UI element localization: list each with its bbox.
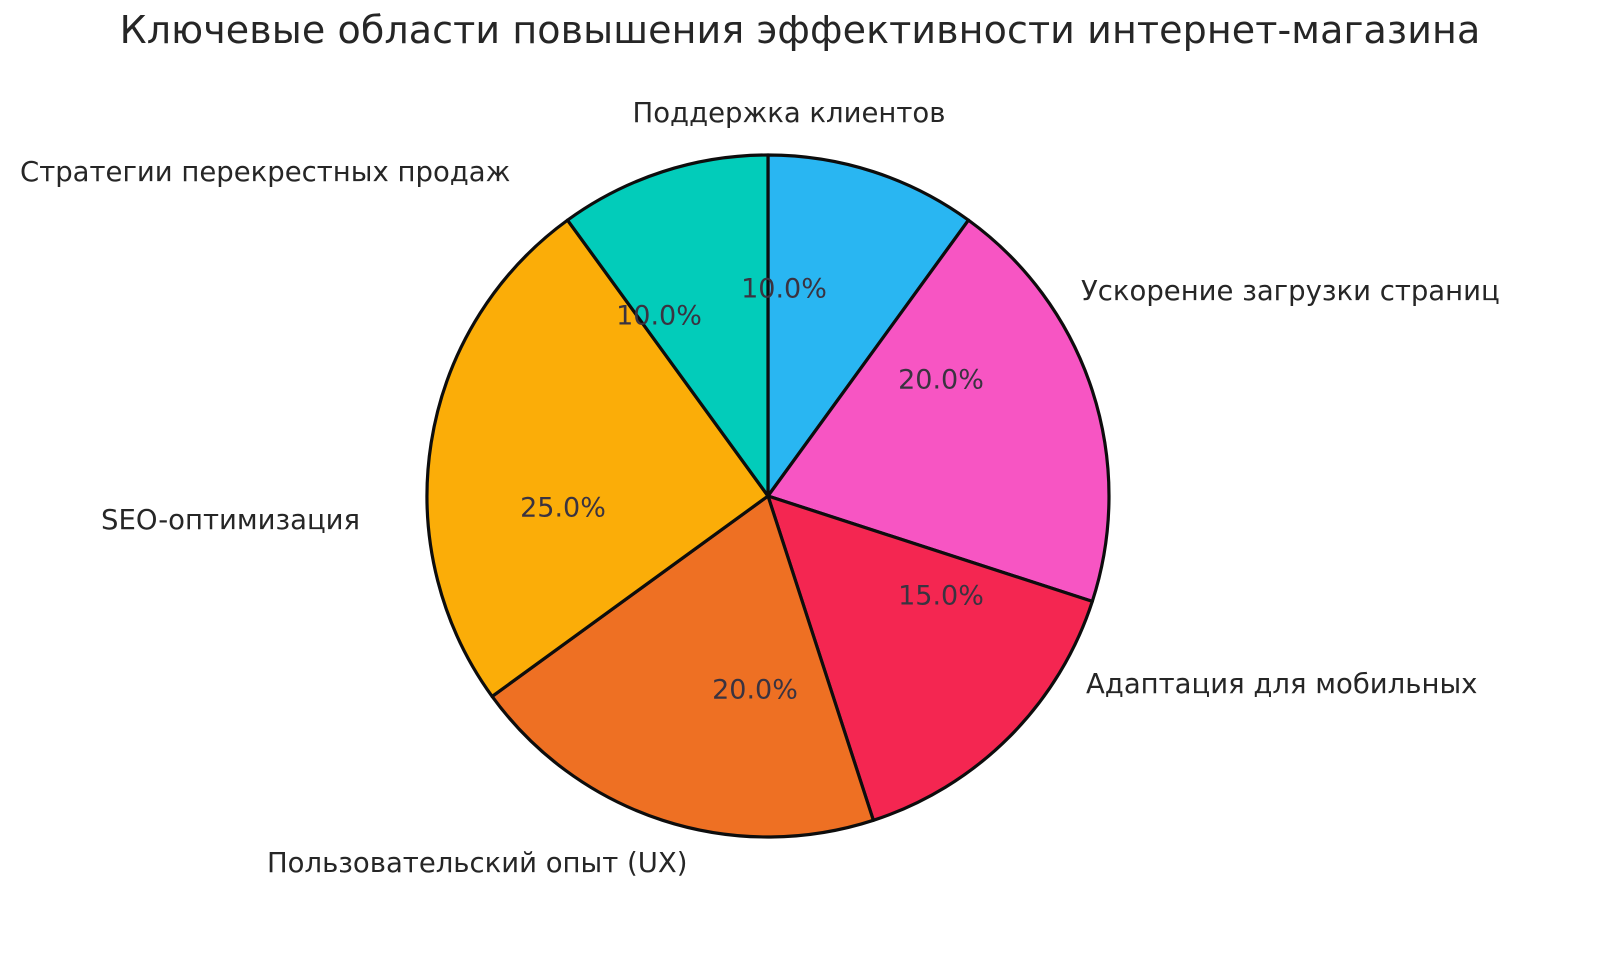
pie-slice-category-label: Стратегии перекрестных продаж — [20, 157, 510, 187]
pie-slice-category-label: Адаптация для мобильных — [1086, 669, 1477, 699]
pie-slice-percent-label: 25.0% — [520, 493, 606, 524]
pie-chart-figure: Ключевые области повышения эффективности… — [0, 0, 1600, 954]
pie-slice-category-label: Ускорение загрузки страниц — [1081, 276, 1500, 306]
pie-slice-category-label: Пользовательский опыт (UX) — [267, 848, 687, 878]
pie-slice-percent-label: 10.0% — [741, 274, 827, 305]
pie-slice-percent-label: 20.0% — [898, 365, 984, 396]
pie-slice-category-label: SEO-оптимизация — [101, 505, 360, 535]
pie-slice-category-label: Поддержка клиентов — [0, 98, 1589, 128]
pie-slice-percent-label: 20.0% — [712, 675, 798, 706]
pie-slice-percent-label: 10.0% — [616, 301, 702, 332]
pie-chart-svg: 10.0%20.0%15.0%20.0%25.0%10.0% — [0, 0, 1600, 954]
pie-slice-percent-label: 15.0% — [898, 581, 984, 612]
